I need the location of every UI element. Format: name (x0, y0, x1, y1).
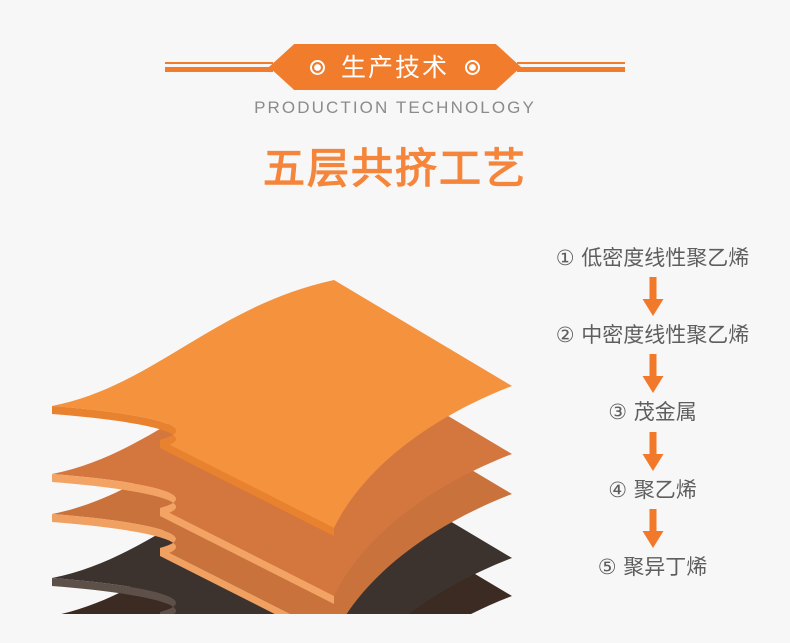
list-item: ② 中密度线性聚乙烯 (556, 323, 750, 348)
list-item-label: 中密度线性聚乙烯 (581, 323, 749, 347)
title-banner: 生产技术 (269, 44, 521, 90)
banner-row: 生产技术 (0, 44, 790, 90)
list-item-label: 低密度线性聚乙烯 (581, 246, 749, 270)
arrow-down-icon (642, 354, 664, 394)
arrow-down-icon (642, 432, 664, 472)
arrow-down-icon (642, 509, 664, 549)
list-item-marker: ③ (608, 400, 634, 424)
circle-ring-icon-left (310, 60, 325, 75)
list-item: ⑤ 聚异丁烯 (598, 555, 708, 580)
list-item-label: 茂金属 (634, 400, 697, 424)
list-item-marker: ⑤ (598, 555, 624, 579)
decorative-rule-right (517, 62, 625, 72)
process-flow-list: ① 低密度线性聚乙烯 ② 中密度线性聚乙烯 ③ 茂金属 ④ 聚乙烯 (515, 246, 790, 580)
page-title: 五层共挤工艺 (0, 143, 790, 196)
list-item-marker: ④ (608, 478, 634, 502)
banner-subtitle: PRODUCTION TECHNOLOGY (0, 99, 790, 116)
five-layer-stack-illustration (34, 224, 534, 614)
list-item: ④ 聚乙烯 (608, 478, 697, 503)
list-item-marker: ① (556, 246, 582, 270)
list-item: ① 低密度线性聚乙烯 (556, 246, 750, 271)
decorative-rule-left (165, 62, 273, 72)
banner-title: 生产技术 (341, 55, 449, 80)
list-item-marker: ② (556, 323, 582, 347)
rule-thin-line (165, 62, 273, 64)
arrow-down-icon (642, 277, 664, 317)
rule-thick-line (165, 67, 273, 72)
rule-thin-line (517, 62, 625, 64)
list-item-label: 聚异丁烯 (623, 555, 707, 579)
header-block: 生产技术 PRODUCTION TECHNOLOGY (0, 0, 790, 140)
circle-ring-icon-right (465, 60, 480, 75)
rule-thick-line (517, 67, 625, 72)
list-item-label: 聚乙烯 (634, 478, 697, 502)
list-item: ③ 茂金属 (608, 400, 697, 425)
